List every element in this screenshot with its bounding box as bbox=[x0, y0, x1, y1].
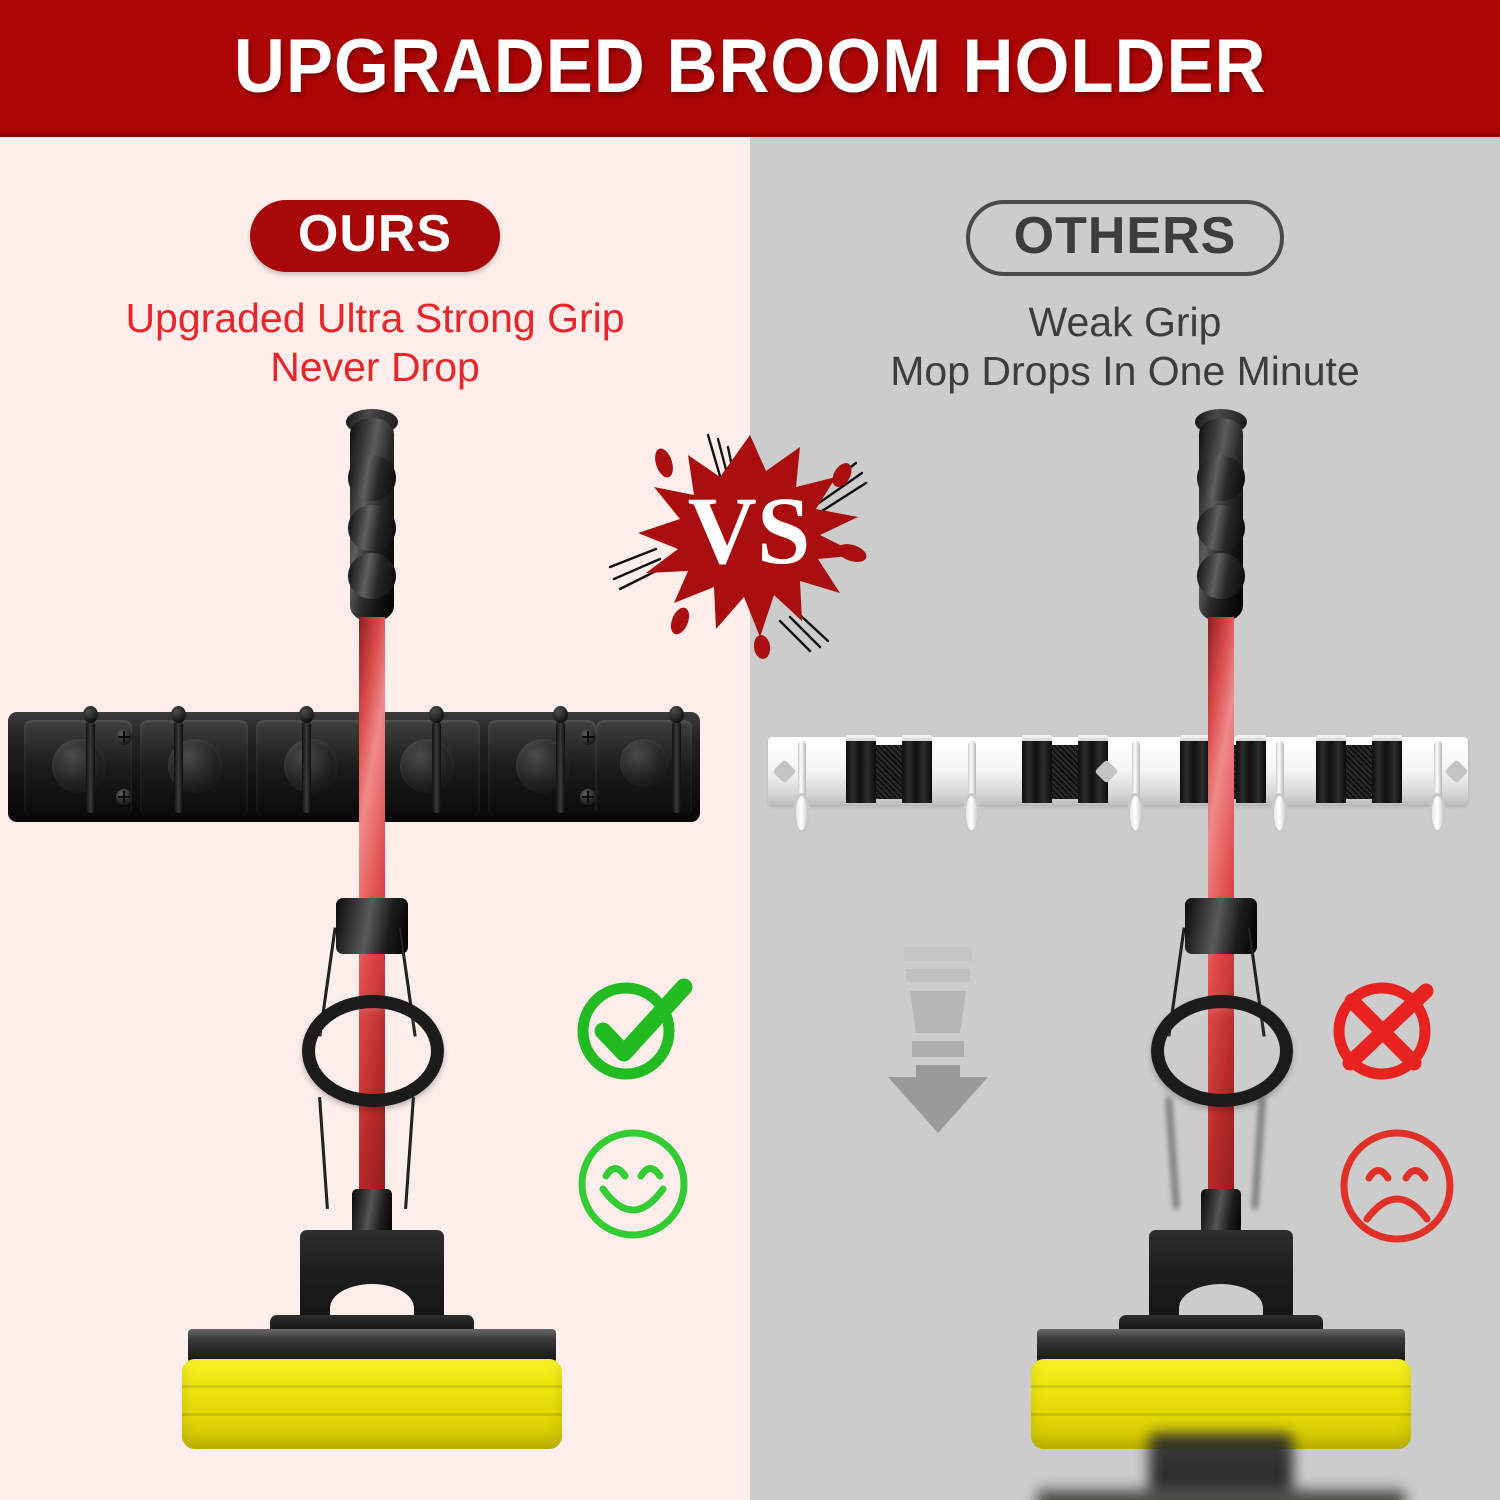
others-badge: OTHERS bbox=[966, 200, 1285, 276]
page-title: UPGRADED BROOM HOLDER bbox=[234, 23, 1267, 110]
rail-hook bbox=[302, 721, 311, 813]
ours-subtitle: Upgraded Ultra Strong Grip Never Drop bbox=[0, 294, 750, 391]
smiley-face-icon bbox=[573, 1123, 693, 1245]
vs-label: VS bbox=[688, 477, 811, 584]
rail-hook bbox=[672, 721, 681, 813]
rail-hook bbox=[174, 721, 183, 813]
others-label-block: OTHERS Weak Grip Mop Drops In One Minute bbox=[750, 200, 1500, 395]
sad-face-icon bbox=[1335, 1123, 1459, 1249]
down-arrow-icon bbox=[878, 947, 998, 1137]
rail-hook bbox=[556, 721, 565, 813]
others-subtitle: Weak Grip Mop Drops In One Minute bbox=[750, 298, 1500, 395]
comparison-infographic: UPGRADED BROOM HOLDER OURS Upgraded Ultr… bbox=[0, 0, 1500, 1500]
ours-badge: OURS bbox=[250, 200, 500, 272]
panel-others: OTHERS Weak Grip Mop Drops In One Minute bbox=[750, 137, 1500, 1500]
check-circle-icon bbox=[572, 973, 694, 1085]
header-banner: UPGRADED BROOM HOLDER bbox=[0, 0, 1500, 137]
vs-badge: VS bbox=[604, 425, 894, 665]
x-circle-icon bbox=[1326, 973, 1446, 1087]
rail-hook bbox=[86, 721, 95, 813]
ours-label-block: OURS Upgraded Ultra Strong Grip Never Dr… bbox=[0, 200, 750, 391]
panel-ours: OURS Upgraded Ultra Strong Grip Never Dr… bbox=[0, 137, 750, 1500]
rail-hook bbox=[432, 721, 441, 813]
